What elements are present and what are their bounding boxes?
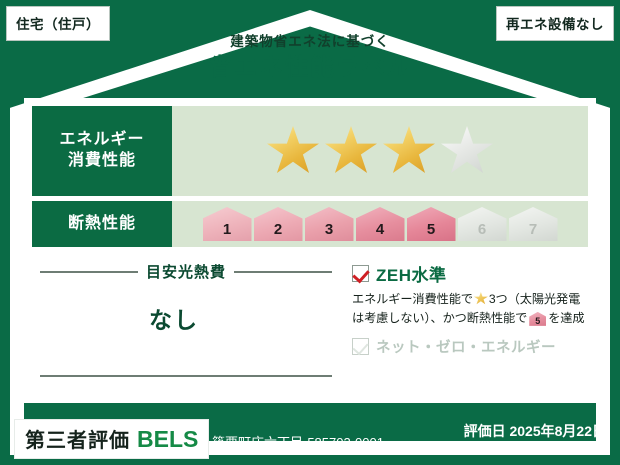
insulation-level-1: 1 bbox=[203, 207, 252, 241]
insulation-level-5: 5 bbox=[407, 207, 456, 241]
insulation-level-6: 6 bbox=[458, 207, 507, 241]
zeh-standard-title: ZEH水準 bbox=[376, 261, 447, 286]
lower-section: 目安光熱費 なし ZEH水準 エネルギー消費性能で3つ（太陽光発電は考慮しない）… bbox=[24, 253, 596, 403]
cost-rule-bottom bbox=[40, 375, 332, 377]
label-title-block: 建築物省エネ法に基づく 省エネ性能ラベル bbox=[0, 34, 620, 83]
row-insulation-performance: 断熱性能 1 2 3 4 5 6 7 bbox=[32, 201, 588, 247]
inline-star-icon bbox=[474, 292, 488, 305]
zeh-panel: ZEH水準 エネルギー消費性能で3つ（太陽光発電は考慮しない）、かつ断熱性能で5… bbox=[342, 253, 596, 403]
zeh-description: エネルギー消費性能で3つ（太陽光発電は考慮しない）、かつ断熱性能で5を達成 bbox=[352, 290, 588, 328]
utility-cost-panel: 目安光熱費 なし bbox=[24, 253, 342, 403]
bels-logo-badge: 第三者評価 BELS bbox=[14, 419, 209, 459]
property-address: 篠栗町庄六丁目-585702-0001 bbox=[212, 432, 384, 451]
energy-label-line1: エネルギー bbox=[59, 130, 144, 151]
badge-renewable-energy: 再エネ設備なし bbox=[496, 6, 614, 41]
insulation-label-line1: 断熱性能 bbox=[68, 214, 136, 235]
bels-third-party-text: 第三者評価 bbox=[25, 424, 130, 453]
badge-building-type: 住宅（住戸） bbox=[6, 6, 110, 41]
insulation-level-4: 4 bbox=[356, 207, 405, 241]
bels-energy-label: 住宅（住戸） 再エネ設備なし 建築物省エネ法に基づく 省エネ性能ラベル エネルギ… bbox=[0, 0, 620, 465]
net-zero-energy-row: ネット・ゼロ・エネルギー bbox=[352, 336, 588, 357]
star-3-filled bbox=[383, 126, 435, 176]
utility-cost-title: 目安光熱費 bbox=[146, 261, 226, 282]
row-energy-performance: エネルギー 消費性能 bbox=[32, 106, 588, 196]
energy-label-line2: 消費性能 bbox=[68, 151, 136, 172]
energy-star-rating bbox=[172, 106, 588, 196]
zeh-checkbox-checked-icon bbox=[352, 265, 369, 282]
evaluation-info: 評価日 2025年8月22日 cb3accd2-bb13-47b3 bbox=[464, 421, 606, 454]
energy-performance-label: エネルギー 消費性能 bbox=[32, 106, 172, 196]
insulation-level-scale: 1 2 3 4 5 6 7 bbox=[172, 201, 588, 247]
zeh-desc-star-count: 3つ（太陽光発電 bbox=[489, 292, 580, 306]
label-footer: 第三者評価 BELS 篠栗町庄六丁目-585702-0001 評価日 2025年… bbox=[0, 409, 620, 465]
evaluation-date: 評価日 2025年8月22日 bbox=[464, 421, 606, 441]
cost-rule-left bbox=[40, 271, 138, 273]
utility-cost-value: なし bbox=[24, 301, 324, 335]
title-main: 省エネ性能ラベル bbox=[0, 53, 620, 83]
star-4-empty bbox=[441, 126, 493, 176]
cost-rule-right bbox=[234, 271, 332, 273]
star-1-filled bbox=[267, 126, 319, 176]
insulation-performance-label: 断熱性能 bbox=[32, 201, 172, 247]
zeh-desc-part1: エネルギー消費性能で bbox=[352, 292, 473, 306]
netzero-checkbox-unchecked-icon bbox=[352, 338, 369, 355]
zeh-desc-part3: を達成 bbox=[548, 311, 584, 325]
evaluation-code: cb3accd2-bb13-47b3 bbox=[464, 443, 606, 454]
zeh-desc-part2: は考慮しない）、かつ断熱性能で bbox=[352, 311, 527, 325]
net-zero-energy-label: ネット・ゼロ・エネルギー bbox=[376, 336, 556, 357]
insulation-level-2: 2 bbox=[254, 207, 303, 241]
insulation-level-3: 3 bbox=[305, 207, 354, 241]
bels-logo-text: BELS bbox=[137, 426, 198, 453]
insulation-level-7: 7 bbox=[509, 207, 558, 241]
star-2-filled bbox=[325, 126, 377, 176]
main-content-card: エネルギー 消費性能 断熱性能 1 2 3 4 5 6 7 bbox=[24, 98, 596, 403]
utility-cost-header: 目安光熱費 bbox=[40, 261, 332, 282]
zeh-standard-row: ZEH水準 bbox=[352, 261, 588, 286]
inline-house-icon: 5 bbox=[529, 312, 546, 326]
